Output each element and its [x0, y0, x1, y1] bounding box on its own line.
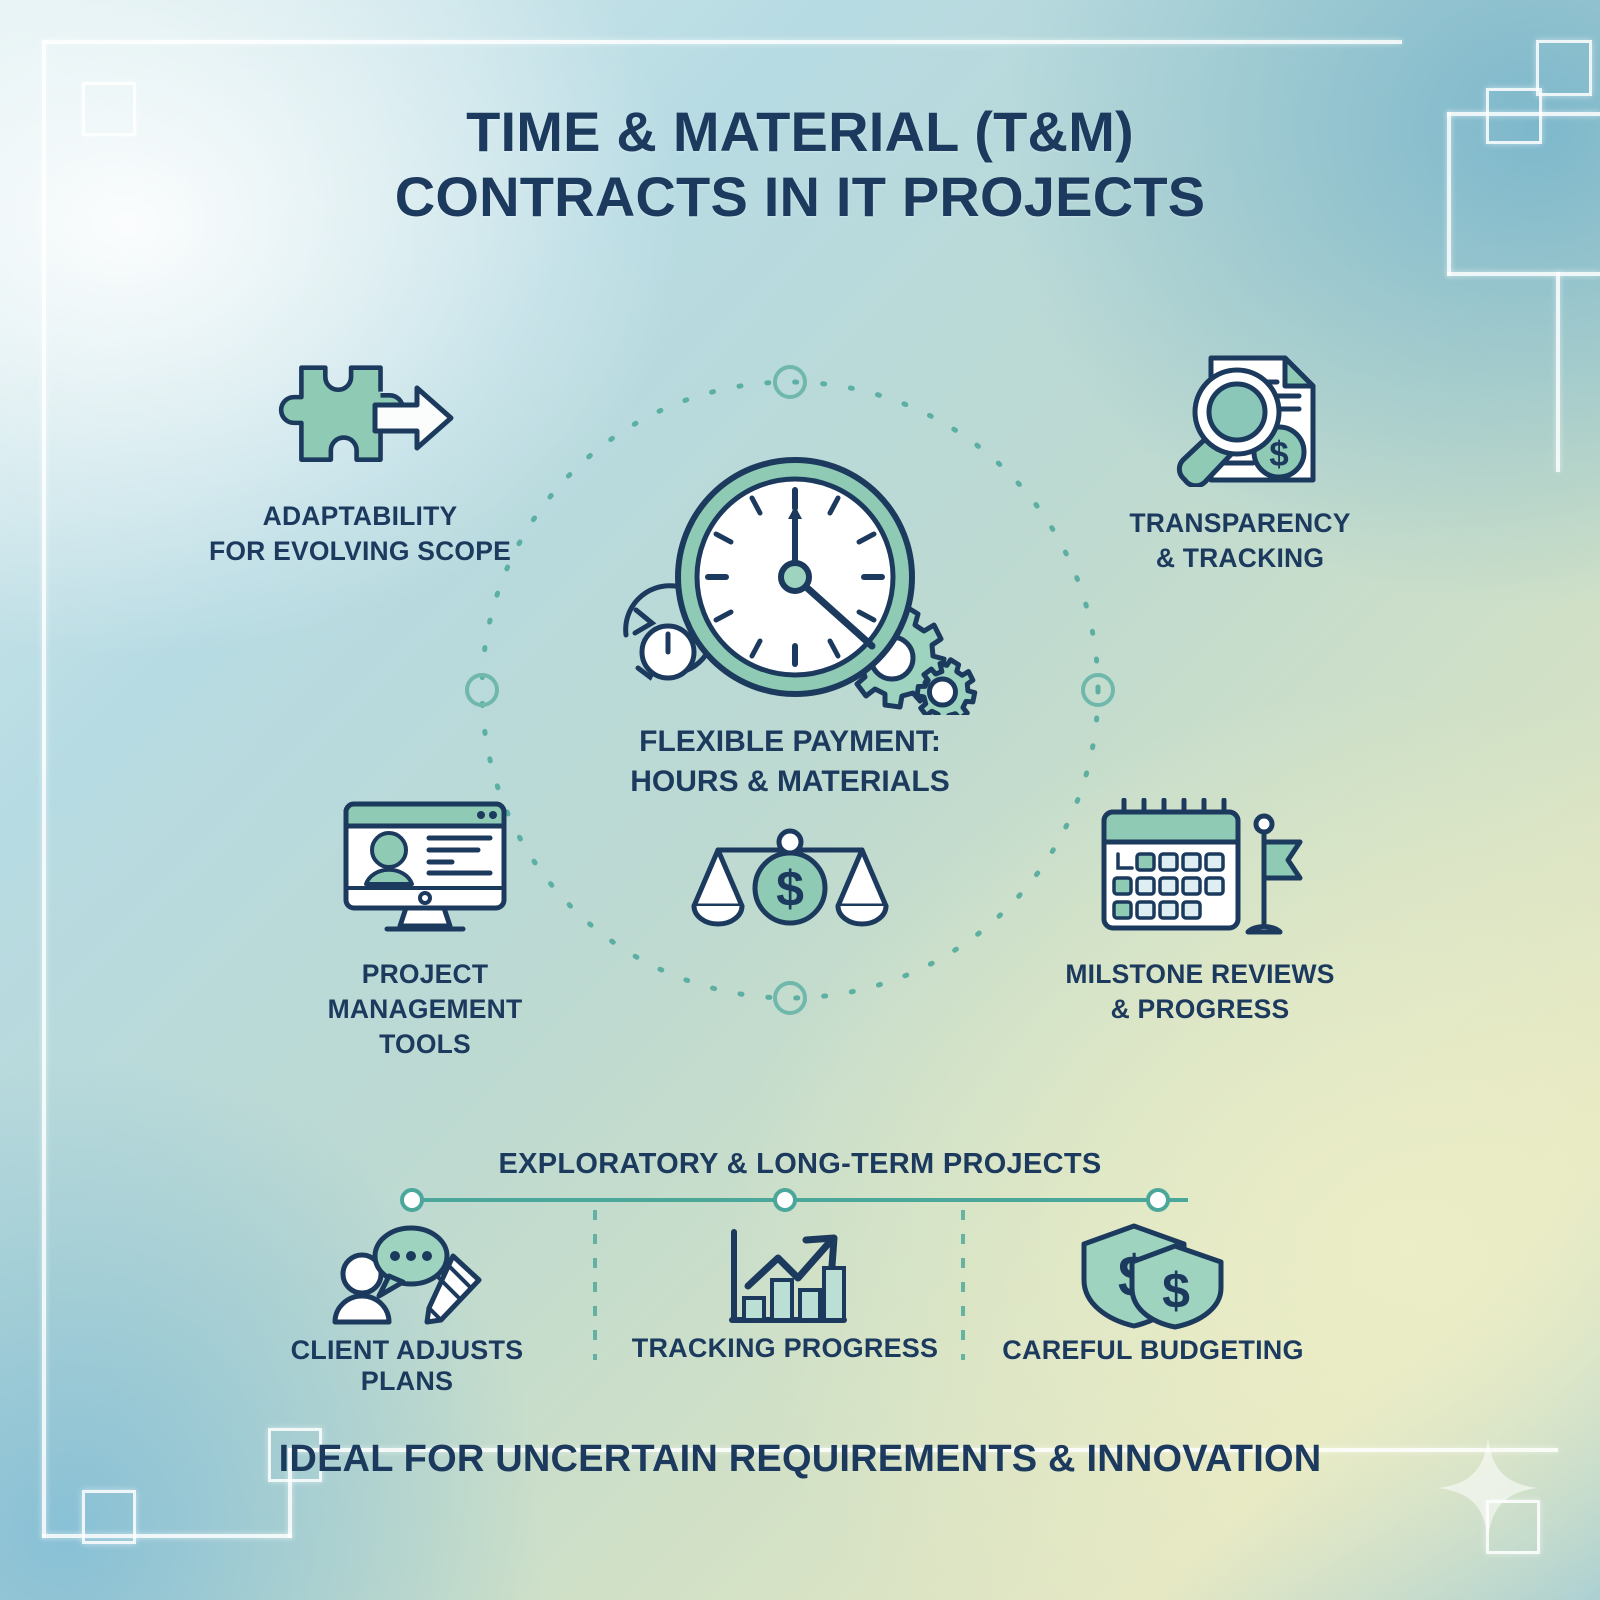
bar-chart-arrow-icon: [720, 1315, 850, 1332]
svg-text:$: $: [1269, 435, 1288, 474]
page-title: TIME & MATERIAL (T&M) CONTRACTS IN IT PR…: [0, 100, 1600, 230]
timeline-item-client-adjusts: CLIENT ADJUSTS PLANS: [242, 1222, 572, 1397]
node-pm-tools-label: PROJECT MANAGEMENT TOOLS: [230, 957, 620, 1062]
person-speech-pencil-icon: [327, 1317, 487, 1334]
timeline-track: [400, 1188, 1200, 1212]
puzzle-arrow-icon: [180, 360, 540, 485]
timeline-divider-1: [590, 1210, 600, 1360]
timeline-item-budgeting: $ $ CAREFUL BUDGETING: [988, 1222, 1318, 1366]
timeline-divider-2: [958, 1210, 968, 1360]
clock-gears-icon: [600, 440, 990, 720]
infographic-canvas: TIME & MATERIAL (T&M) CONTRACTS IN IT PR…: [0, 0, 1600, 1600]
node-adaptability: ADAPTABILITY FOR EVOLVING SCOPE: [180, 360, 540, 569]
monitor-profile-icon: [230, 798, 620, 943]
footer-text: IDEAL FOR UNCERTAIN REQUIREMENTS & INNOV…: [0, 1438, 1600, 1481]
svg-text:$: $: [776, 861, 804, 917]
calendar-flag-icon: [1000, 798, 1400, 943]
shields-dollar-icon: $ $: [1078, 1317, 1228, 1334]
timeline-item-budgeting-label: CAREFUL BUDGETING: [988, 1335, 1318, 1366]
timeline-item-client-adjusts-label: CLIENT ADJUSTS PLANS: [242, 1335, 572, 1397]
timeline-item-tracking: TRACKING PROGRESS: [620, 1228, 950, 1364]
node-transparency-label: TRANSPARENCY & TRACKING: [1060, 506, 1420, 576]
node-transparency: $ TRANSPARENCY & TRACKING: [1060, 352, 1420, 576]
node-pm-tools: PROJECT MANAGEMENT TOOLS: [230, 798, 620, 1062]
node-adaptability-label: ADAPTABILITY FOR EVOLVING SCOPE: [180, 499, 540, 569]
center-label: FLEXIBLE PAYMENT: HOURS & MATERIALS: [480, 722, 1100, 801]
magnifier-document-dollar-icon: $: [1060, 352, 1420, 492]
node-milestones: MILSTONE REVIEWS & PROGRESS: [1000, 798, 1400, 1027]
title-line-1: TIME & MATERIAL (T&M): [466, 100, 1134, 163]
node-milestones-label: MILSTONE REVIEWS & PROGRESS: [1000, 957, 1400, 1027]
timeline-title: EXPLORATORY & LONG-TERM PROJECTS: [0, 1148, 1600, 1181]
timeline-item-tracking-label: TRACKING PROGRESS: [620, 1333, 950, 1364]
svg-text:$: $: [1162, 1263, 1190, 1319]
title-line-2: CONTRACTS IN IT PROJECTS: [0, 165, 1600, 230]
balance-scale-dollar-icon: $: [690, 822, 890, 937]
